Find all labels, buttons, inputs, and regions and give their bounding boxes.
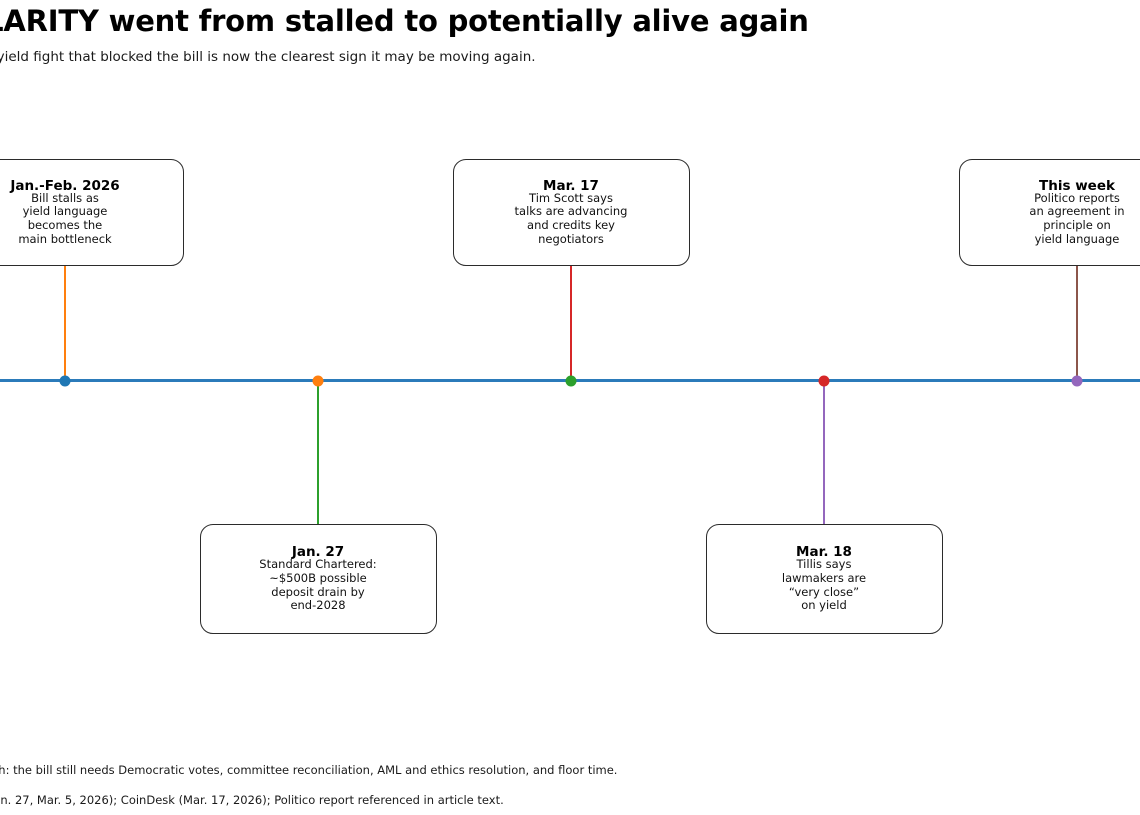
event-card[interactable]: Jan. 27Standard Chartered: ~$500B possib…: [200, 524, 437, 634]
event-card[interactable]: Mar. 17Tim Scott says talks are advancin…: [453, 159, 690, 266]
event-card[interactable]: Mar. 18Tillis says lawmakers are “very c…: [706, 524, 943, 634]
timeline-stem: [823, 381, 825, 524]
page-title: CLARITY went from stalled to potentially…: [0, 2, 1140, 40]
timeline-dot[interactable]: [313, 376, 324, 387]
timeline-stem: [317, 381, 319, 524]
event-description: Politico reports an agreement in princip…: [1029, 192, 1124, 246]
page-subtitle: coin-yield fight that blocked the bill i…: [0, 48, 1140, 66]
event-card[interactable]: This weekPolitico reports an agreement i…: [959, 159, 1140, 266]
timeline-stem: [1076, 266, 1078, 381]
timeline-figure: CLARITY went from stalled to potentially…: [0, 0, 1140, 815]
timeline-stem: [570, 266, 572, 381]
footnote-path: ar path: the bill still needs Democratic…: [0, 762, 1140, 778]
event-card[interactable]: Jan.-Feb. 2026Bill stalls as yield langu…: [0, 159, 184, 266]
timeline-dot[interactable]: [60, 376, 71, 387]
event-description: Tim Scott says talks are advancing and c…: [515, 192, 628, 246]
event-description: Bill stalls as yield language becomes th…: [18, 192, 111, 246]
timeline-dot[interactable]: [819, 376, 830, 387]
timeline-dot[interactable]: [1072, 376, 1083, 387]
timeline-dot[interactable]: [566, 376, 577, 387]
footnote-sources: ers (Jan. 27, Mar. 5, 2026); CoinDesk (M…: [0, 792, 1140, 808]
timeline-stem: [64, 266, 66, 381]
event-description: Standard Chartered: ~$500B possible depo…: [259, 558, 376, 612]
event-description: Tillis says lawmakers are “very close” o…: [782, 558, 866, 612]
